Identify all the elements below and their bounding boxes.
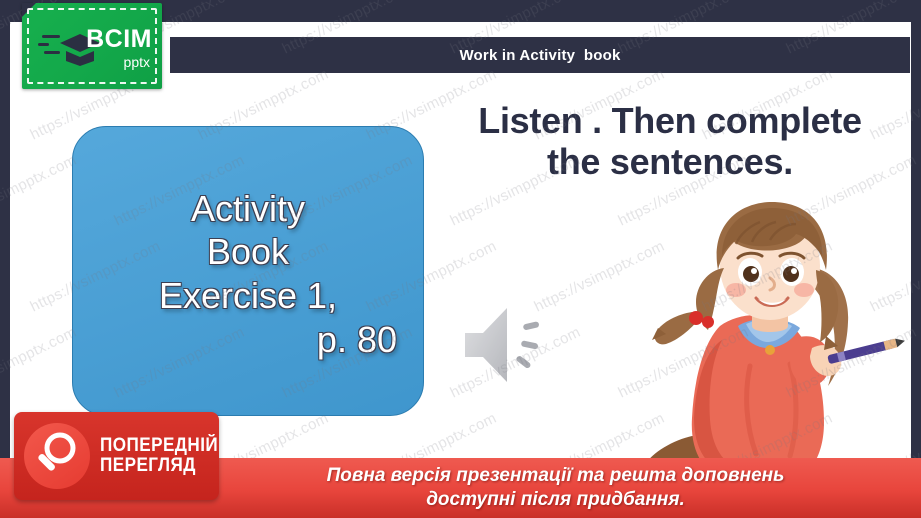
speaker-sound-icon[interactable] [455, 300, 565, 390]
purchase-notice-text: Повна версія презентації та решта доповн… [137, 464, 785, 512]
activity-book-panel: Activity Book Exercise 1, p. 80 [72, 126, 424, 416]
slide-title-text: Work in Activity book [459, 47, 620, 64]
logo-brand-text: BCIM [86, 27, 152, 52]
panel-line-1: Activity [95, 187, 401, 231]
slide-title-bar: Work in Activity book [170, 37, 910, 73]
panel-line-3: Exercise 1, [95, 274, 401, 318]
logo-suffix-text: pptx [124, 55, 150, 69]
girl-with-pencil-illustration [600, 190, 911, 468]
magnifier-icon [24, 423, 90, 489]
heading-line-2: the sentences. [440, 141, 900, 182]
panel-line-2: Book [95, 230, 401, 274]
preview-badge-text: ПОПЕРЕДНІЙ ПЕРЕГЛЯД [100, 436, 218, 476]
window-frame: Listen . Then complete the sentences. Ac… [0, 0, 921, 518]
bcim-logo[interactable]: BCIM pptx [22, 3, 162, 89]
preview-badge[interactable]: ПОПЕРЕДНІЙ ПЕРЕГЛЯД [14, 412, 219, 500]
slide-heading: Listen . Then complete the sentences. [440, 100, 900, 182]
speed-lines-icon [38, 35, 60, 59]
heading-line-1: Listen . Then complete [440, 100, 900, 141]
panel-line-4: p. 80 [95, 318, 401, 362]
